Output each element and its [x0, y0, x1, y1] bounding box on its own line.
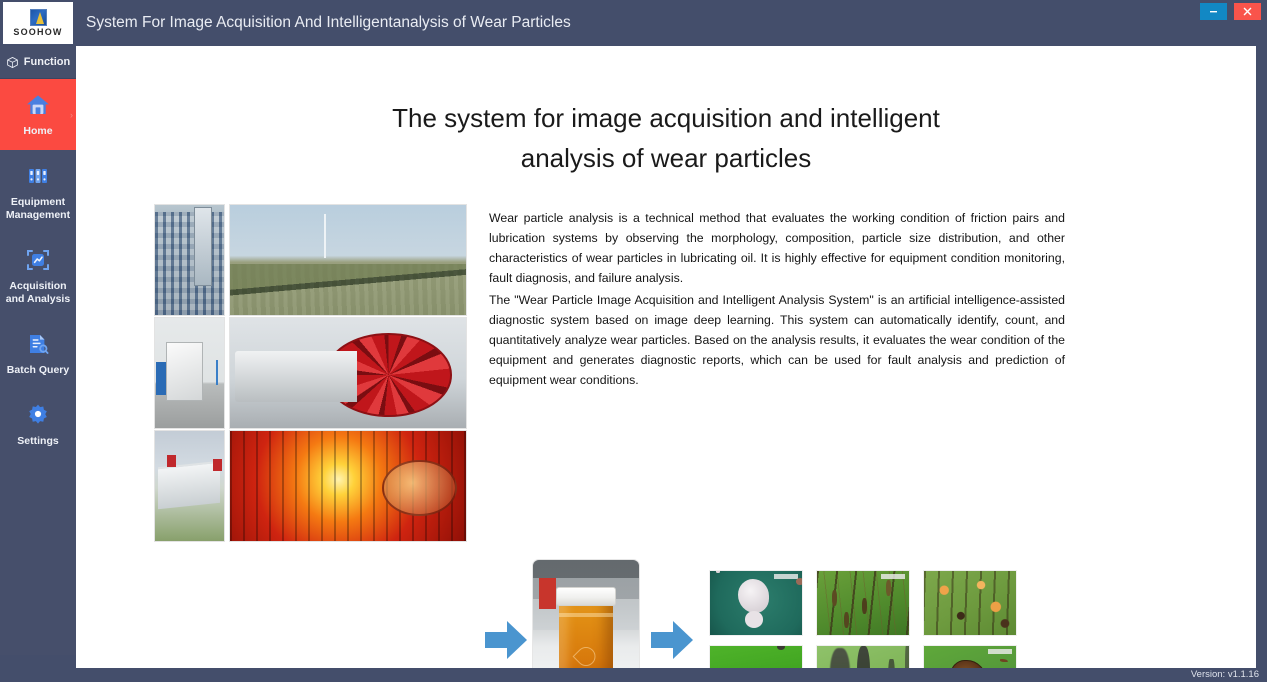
label-line-2: Management	[6, 209, 70, 221]
application-window: SOOHOW System For Image Acquisition And …	[0, 0, 1267, 682]
crusher-machine-photo	[154, 317, 225, 429]
steel-mill-photo	[229, 430, 467, 542]
logo-text: SOOHOW	[13, 27, 62, 37]
minimize-button[interactable]	[1200, 3, 1227, 20]
particle-image-5	[816, 645, 910, 669]
workflow-arrow-2-icon	[651, 618, 693, 662]
sidebar-item-batch-query-label: Batch Query	[7, 364, 69, 377]
workflow-arrow-1-icon	[485, 618, 527, 662]
app-logo: SOOHOW	[3, 2, 73, 44]
window-controls	[1200, 3, 1261, 20]
cube-icon	[6, 56, 19, 69]
label-line-2: and Analysis	[6, 293, 70, 305]
settings-gear-icon	[25, 402, 51, 428]
sidebar-function-label: Function	[24, 56, 70, 68]
main-content: The system for image acquisition and int…	[76, 46, 1256, 668]
app-title: System For Image Acquisition And Intelli…	[86, 0, 571, 46]
bottle-cap	[556, 587, 616, 606]
tunnel-boring-machine-photo	[229, 317, 467, 429]
scale-bar	[881, 574, 905, 579]
label-line-1: Equipment	[11, 196, 65, 208]
close-button[interactable]	[1234, 3, 1261, 20]
sidebar-item-acquisition-and-analysis[interactable]: Acquisition and Analysis	[0, 234, 76, 318]
particle-image-2	[816, 570, 910, 636]
particle-image-1	[709, 570, 803, 636]
equipment-icon	[25, 163, 51, 189]
chevron-right-icon: ›	[70, 110, 73, 120]
sidebar-item-equipment-management[interactable]: Equipment Management	[0, 150, 76, 234]
label-line-1: Acquisition	[9, 280, 66, 292]
sidebar-function-header: Function	[0, 46, 76, 79]
particle-image-3	[923, 570, 1017, 636]
intro-section: Wear particle analysis is a technical me…	[76, 204, 1256, 542]
version-label: Version: v1.1.16	[1191, 668, 1259, 682]
oil-droplet-emboss-icon	[573, 643, 600, 668]
sidebar-item-home[interactable]: Home ›	[0, 79, 76, 150]
particle-image-grid	[709, 570, 1017, 669]
intro-text-column: Wear particle analysis is a technical me…	[489, 204, 1065, 542]
batch-query-icon	[25, 331, 51, 357]
status-bar: Version: v1.1.16	[0, 668, 1267, 682]
bottle-neck-ring	[559, 613, 613, 617]
industry-photo-grid	[154, 204, 467, 542]
page-title: The system for image acquisition and int…	[286, 98, 1046, 178]
sidebar: Function Home ›	[0, 46, 76, 655]
sidebar-item-home-label: Home	[23, 125, 52, 138]
page-title-line-1: The system for image acquisition and int…	[392, 103, 940, 133]
sidebar-item-acquisition-and-analysis-label: Acquisition and Analysis	[6, 280, 70, 306]
acquisition-icon	[25, 247, 51, 273]
page-title-line-2: analysis of wear particles	[286, 138, 1046, 178]
sidebar-item-settings[interactable]: Settings	[0, 389, 76, 460]
intro-paragraph-2: The "Wear Particle Image Acquisition and…	[489, 290, 1065, 390]
sidebar-item-equipment-management-label: Equipment Management	[6, 196, 70, 222]
refinery-photo	[154, 204, 225, 316]
oil-sample-photo	[533, 560, 639, 668]
minimize-icon	[1209, 7, 1218, 16]
particle-image-4	[709, 645, 803, 669]
sidebar-item-batch-query[interactable]: Batch Query	[0, 318, 76, 389]
close-icon	[1243, 7, 1252, 16]
particle-image-6	[923, 645, 1017, 669]
home-icon	[25, 92, 51, 118]
scale-bar	[988, 649, 1012, 654]
intro-paragraph-1: Wear particle analysis is a technical me…	[489, 208, 1065, 288]
dam-photo	[154, 430, 225, 542]
scale-bar	[774, 574, 798, 579]
workflow-diagram	[76, 550, 1256, 668]
soohow-logo-icon	[30, 9, 47, 26]
title-bar: SOOHOW System For Image Acquisition And …	[0, 0, 1267, 46]
wind-farm-photo	[229, 204, 467, 316]
sidebar-item-settings-label: Settings	[17, 435, 58, 448]
